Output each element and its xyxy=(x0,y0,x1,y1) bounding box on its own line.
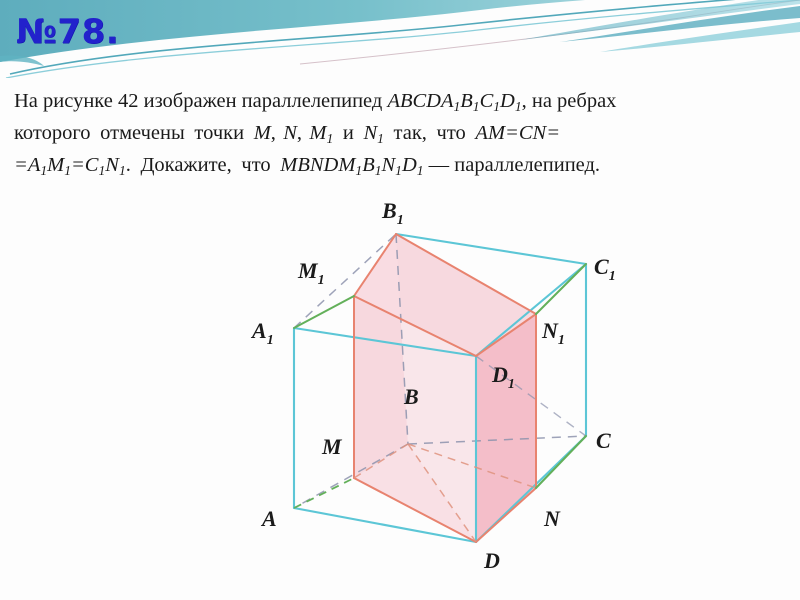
statement-line2-word-3: точки xyxy=(194,122,244,144)
vertex-label-M1: M1 xyxy=(297,258,325,288)
vertex-label-C: C xyxy=(596,428,611,453)
math-mbndm-n: N xyxy=(381,154,395,176)
math-c: C xyxy=(480,90,494,112)
math-eq-n1: N xyxy=(105,154,119,176)
statement-line-2: которого отмечены точки M, N, M1 и N1 та… xyxy=(14,120,786,152)
statement-line3-word-1: Докажите, xyxy=(140,154,231,176)
statement-line-1: На рисунке 42 изображен параллелепипед A… xyxy=(14,88,786,120)
math-equation-am-cn: AM=CN= xyxy=(475,122,560,144)
statement-line3-tail: — параллелепипед. xyxy=(424,154,601,176)
math-eq-n1-sub: 1 xyxy=(119,162,126,177)
vertex-label-N: N xyxy=(543,506,561,531)
statement-line2-word-1: которого xyxy=(14,122,91,144)
math-mbndm: MBNDM xyxy=(280,154,355,176)
math-eq-m1: M xyxy=(47,154,64,176)
parallelepiped-diagram: A B C D A1 B1 C1 D1 M N M1 N1 xyxy=(238,186,638,568)
math-eq-a1: =A xyxy=(14,154,40,176)
math-mbndm-b: B xyxy=(362,154,375,176)
problem-statement: На рисунке 42 изображен параллелепипед A… xyxy=(14,88,786,183)
statement-line2-word-2: отмечены xyxy=(100,122,185,144)
statement-conj-i: и xyxy=(343,122,354,144)
math-point-m: M xyxy=(254,122,271,144)
math-sub-d1: 1 xyxy=(515,99,522,114)
math-point-n1-sub: 1 xyxy=(377,131,384,146)
statement-line3-word-2: что xyxy=(241,154,270,176)
statement-line-3: =A1M1=C1N1. Докажите, что MBNDM1B1N1D1 —… xyxy=(14,152,786,184)
vertex-label-A: A xyxy=(260,506,277,531)
vertex-label-N1: N1 xyxy=(541,318,565,348)
statement-line2-word-4: так, xyxy=(394,122,427,144)
math-sub-b1: 1 xyxy=(473,99,480,114)
math-abcda: ABCDA xyxy=(387,90,453,112)
math-eq-m1-sub: 1 xyxy=(64,162,71,177)
math-point-m1: M xyxy=(309,122,326,144)
vertex-label-A1: A1 xyxy=(250,318,274,348)
vertex-label-B1: B1 xyxy=(381,198,404,228)
math-point-n: N xyxy=(283,122,297,144)
math-sub-c1: 1 xyxy=(493,99,500,114)
marked-edge-C1-N1 xyxy=(536,264,586,314)
math-b: B xyxy=(460,90,473,112)
vertex-label-D: D xyxy=(483,548,500,568)
math-mbndm-d-sub: 1 xyxy=(417,162,424,177)
decorative-wave-banner xyxy=(0,0,800,78)
vertex-label-B: B xyxy=(403,384,419,409)
page-title: №78. xyxy=(16,12,119,52)
marked-edge-C-N xyxy=(536,436,586,488)
slide-canvas: №78. На рисунке 42 изображен параллелепи… xyxy=(0,0,800,600)
math-mbndm-d: D xyxy=(402,154,417,176)
math-mbndm-n-sub: 1 xyxy=(395,162,402,177)
statement-line2-word-5: что xyxy=(437,122,466,144)
vertex-label-M: M xyxy=(321,434,343,459)
statement-line1-text-a: На рисунке 42 изображен параллелепипед xyxy=(14,90,387,112)
math-point-n1: N xyxy=(363,122,377,144)
statement-line1-text-b: , на ребрах xyxy=(522,90,617,112)
vertex-label-C1: C1 xyxy=(594,254,616,284)
math-d: D xyxy=(500,90,515,112)
math-eq-c1: =C xyxy=(71,154,99,176)
